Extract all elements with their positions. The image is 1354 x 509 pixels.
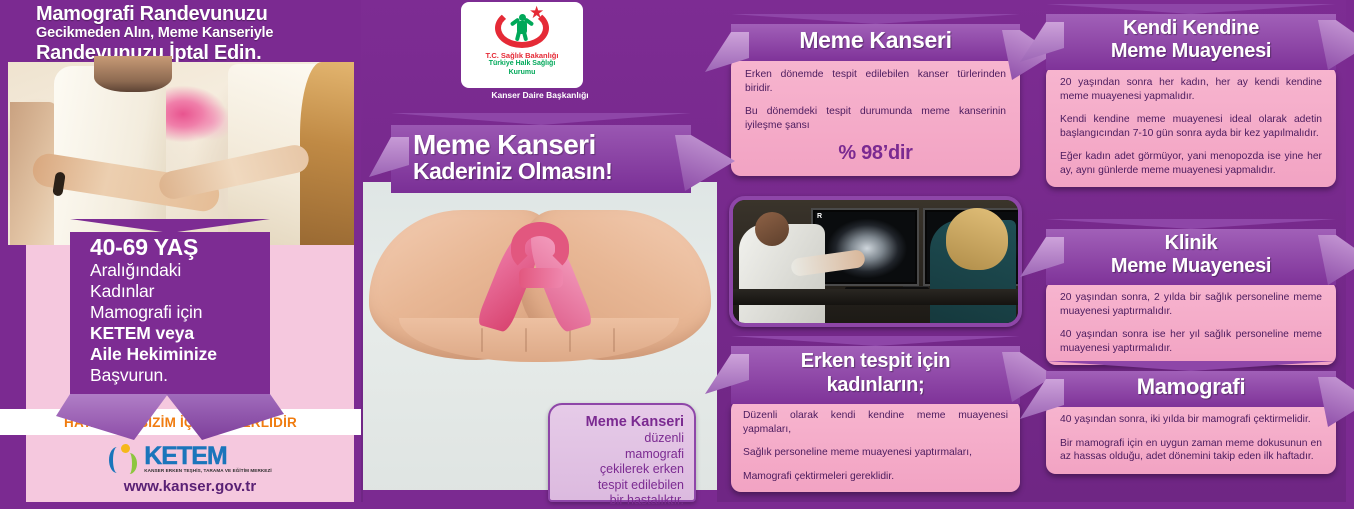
ribbon-line6: Aile Hekiminize bbox=[90, 344, 270, 365]
card-paragraph: Eğer kadın adet görmüyor, yani menopozda… bbox=[1060, 150, 1322, 177]
banner-wing-left bbox=[369, 137, 409, 177]
ribbon-line7: Başvurun. bbox=[90, 365, 270, 386]
photo-shape bbox=[946, 208, 1008, 270]
ribbon-tail-left bbox=[56, 394, 168, 440]
left-panel: Mamografi Randevunuzu Gecikmeden Alın, M… bbox=[0, 0, 361, 502]
ketem-logo: KETEM KANSER ERKEN TEŞHİS, TARAMA VE EĞİ… bbox=[108, 443, 272, 475]
center-title-banner: Meme Kanseri Kaderiniz Olmasın! bbox=[391, 113, 691, 193]
card-title-line2: Meme Muayenesi bbox=[1056, 255, 1326, 278]
card-paragraph: Erken dönemde tespit edilebilen kanser t… bbox=[745, 68, 1006, 95]
card-header: Mamografi bbox=[1046, 361, 1336, 407]
left-panel-header: Mamografi Randevunuzu Gecikmeden Alın, M… bbox=[0, 0, 361, 62]
left-purple-margin bbox=[0, 245, 26, 415]
star-icon: ★ bbox=[529, 4, 544, 21]
card-header: Kendi Kendine Meme Muayenesi bbox=[1046, 4, 1336, 70]
card-paragraph: 20 yaşından sonra, 2 yılda bir sağlık pe… bbox=[1060, 291, 1322, 318]
crescent-star-icon: ★ bbox=[491, 6, 553, 50]
middle-right-column: Meme Kanseri Erken dönemde tespit edileb… bbox=[719, 0, 1032, 502]
card-title-line1: Kendi Kendine bbox=[1056, 17, 1326, 40]
card-body: 20 yaşından sonra her kadın, her ay kend… bbox=[1046, 66, 1336, 187]
ribbon-line5: KETEM veya bbox=[90, 323, 270, 344]
center-panel: ★ T.C. Sağlık Bakanlığı Türkiye Halk Sağ… bbox=[363, 0, 717, 502]
card-paragraph: 20 yaşından sonra her kadın, her ay kend… bbox=[1060, 76, 1322, 103]
ribbon-line2: Aralığındaki bbox=[90, 260, 270, 281]
far-right-column: Kendi Kendine Meme Muayenesi 20 yaşından… bbox=[1032, 0, 1354, 502]
fate-info-box: Meme Kanseri düzenli mamografi çekilerek… bbox=[548, 403, 696, 502]
card-paragraph: Sağlık personeline meme muayenesi yaptır… bbox=[743, 446, 1008, 460]
card-klinik-muayene: Klinik Meme Muayenesi 20 yaşından sonra,… bbox=[1046, 219, 1336, 365]
card-title-line2: kadınların; bbox=[741, 373, 1010, 397]
card-header: Erken tespit için kadınların; bbox=[731, 336, 1020, 404]
monitor-left: R bbox=[811, 208, 919, 286]
card-title: Mamografi bbox=[1056, 374, 1326, 400]
card-paragraph: 40 yaşından sonra ise her yıl sağlık per… bbox=[1060, 328, 1322, 355]
couple-photo bbox=[8, 62, 353, 245]
ministry-logo: ★ T.C. Sağlık Bakanlığı Türkiye Halk Sağ… bbox=[461, 2, 583, 88]
xray-label-left: L bbox=[1021, 213, 1022, 220]
fate-box-line1: düzenli bbox=[560, 431, 684, 447]
mammography-photo: R L bbox=[729, 196, 1022, 327]
card-title-line2: Meme Muayenesi bbox=[1056, 40, 1326, 63]
ketem-website-url[interactable]: www.kanser.gov.tr bbox=[124, 478, 257, 495]
left-header-line3: Randevunuzu İptal Edin. bbox=[36, 42, 355, 64]
photo-shape bbox=[94, 56, 172, 92]
photo-shape bbox=[54, 66, 166, 245]
ministry-line2: Türkiye Halk Sağlığı bbox=[489, 60, 556, 69]
card-paragraph: Kendi kendine meme muayenesi ideal olara… bbox=[1060, 113, 1322, 140]
person-figure-icon bbox=[513, 14, 531, 40]
card-kendi-kendine-muayene: Kendi Kendine Meme Muayenesi 20 yaşından… bbox=[1046, 4, 1336, 187]
card-body: 40 yaşından sonra, iki yılda bir mamogra… bbox=[1046, 403, 1336, 474]
card-title-line1: Erken tespit için bbox=[741, 349, 1010, 373]
ministry-caption: Kanser Daire Başkanlığı bbox=[363, 90, 717, 100]
xray-label-right: R bbox=[817, 213, 822, 220]
survival-rate-highlight: % 98’dir bbox=[745, 142, 1006, 165]
poster-root: Mamografi Randevunuzu Gecikmeden Alın, M… bbox=[0, 0, 1354, 502]
card-paragraph: Bu dönemdeki tespit durumunda meme kanse… bbox=[745, 105, 1006, 132]
fate-box-line2: mamografi bbox=[560, 447, 684, 463]
pink-awareness-ribbon-icon bbox=[489, 224, 595, 332]
ministry-line1: T.C. Sağlık Bakanlığı bbox=[486, 51, 559, 60]
card-paragraph: Düzenli olarak kendi kendine meme muayen… bbox=[743, 409, 1008, 436]
fate-box-title: Meme Kanseri bbox=[560, 414, 684, 431]
card-erken-tespit: Erken tespit için kadınların; Düzenli ol… bbox=[731, 336, 1020, 492]
age-range-ribbon-banner: 40-69 YAŞ Aralığındaki Kadınlar Mamograf… bbox=[70, 232, 270, 442]
card-meme-kanseri: Meme Kanseri Erken dönemde tespit edileb… bbox=[731, 14, 1020, 176]
ribbon-tails bbox=[70, 394, 270, 442]
ketem-logo-area: KETEM KANSER ERKEN TEŞHİS, TARAMA VE EĞİ… bbox=[26, 435, 354, 502]
photo-shape bbox=[755, 212, 789, 246]
card-paragraph: 40 yaşından sonra, iki yılda bir mamogra… bbox=[1060, 413, 1322, 427]
ketem-wordmark: KETEM bbox=[144, 444, 272, 468]
card-header: Meme Kanseri bbox=[731, 14, 1020, 61]
card-body: 20 yaşından sonra, 2 yılda bir sağlık pe… bbox=[1046, 281, 1336, 365]
ribbon-tail-right bbox=[166, 394, 284, 440]
ribbon-line4: Mamografi için bbox=[90, 302, 270, 323]
ketem-person-icon bbox=[108, 443, 140, 475]
ribbon-line1: 40-69 YAŞ bbox=[90, 234, 270, 260]
card-body: Düzenli olarak kendi kendine meme muayen… bbox=[731, 400, 1020, 492]
ketem-subtitle: KANSER ERKEN TEŞHİS, TARAMA VE EĞİTİM ME… bbox=[144, 468, 272, 474]
center-banner-line2: Kaderiniz Olmasın! bbox=[413, 159, 691, 184]
ribbon-body: 40-69 YAŞ Aralığındaki Kadınlar Mamograf… bbox=[70, 232, 270, 394]
fate-box-line5: bir hastalıktır. bbox=[560, 493, 684, 509]
left-header-line2: Gecikmeden Alın, Meme Kanseriyle bbox=[36, 25, 355, 42]
card-paragraph: Bir mamografi için en uygun zaman meme d… bbox=[1060, 437, 1322, 464]
left-header-line1: Mamografi Randevunuzu bbox=[36, 4, 355, 25]
card-title: Meme Kanseri bbox=[741, 27, 1010, 54]
card-body: Erken dönemde tespit edilebilen kanser t… bbox=[731, 57, 1020, 176]
ribbon-line3: Kadınlar bbox=[90, 281, 270, 302]
ministry-line3: Kurumu bbox=[509, 69, 536, 78]
card-title-line1: Klinik bbox=[1056, 232, 1326, 255]
card-header: Klinik Meme Muayenesi bbox=[1046, 219, 1336, 285]
card-paragraph: Mamografi çektirmeleri gereklidir. bbox=[743, 470, 1008, 484]
fate-box-line3: çekilerek erken bbox=[560, 462, 684, 478]
photo-shape bbox=[300, 62, 354, 245]
card-mamografi: Mamografi 40 yaşından sonra, iki yılda b… bbox=[1046, 361, 1336, 474]
center-banner-line1: Meme Kanseri bbox=[413, 130, 691, 159]
fate-box-line4: tespit edilebilen bbox=[560, 478, 684, 494]
